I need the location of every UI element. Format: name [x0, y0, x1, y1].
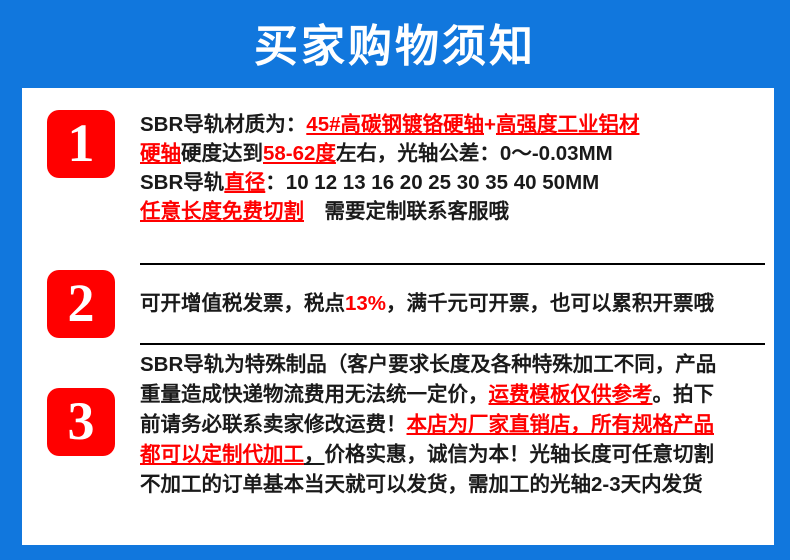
text-run: SBR导轨	[140, 171, 224, 194]
notice-line: SBR导轨为特殊制品（客户要求长度及各种特殊加工不同，产品	[140, 350, 762, 380]
text-run-highlight: 58-62度	[263, 142, 336, 165]
notice-line: 重量造成快递物流费用无法统一定价，运费模板仅供参考。拍下	[140, 380, 762, 410]
notice-line: 都可以定制代加工，价格实惠，诚信为本！光轴长度可任意切割	[140, 440, 762, 470]
notice-section-3: 3 SBR导轨为特殊制品（客户要求长度及各种特殊加工不同，产品 重量造成快递物流…	[22, 350, 774, 500]
divider-above-section-2	[140, 263, 765, 265]
text-run: 左右，光轴公差：0～-0.03MM	[336, 142, 613, 165]
badge-column-1: 1	[22, 110, 140, 178]
text-run-highlight: 13%	[345, 292, 386, 315]
notice-line: 任意长度免费切割 需要定制联系客服哦	[140, 197, 762, 226]
text-run-highlight: 任意长度免费切割	[140, 200, 304, 223]
notice-line: SBR导轨直径：10 12 13 16 20 25 30 35 40 50MM	[140, 168, 762, 197]
notice-line: 可开增值税发票，税点13%，满千元可开票，也可以累积开票哦	[140, 290, 714, 318]
notice-section-2: 2 可开增值税发票，税点13%，满千元可开票，也可以累积开票哦	[22, 266, 774, 342]
section-number-badge-2: 2	[47, 270, 115, 338]
text-run-highlight: 直径	[224, 171, 265, 194]
notice-panel: 1 SBR导轨材质为：45#高碳钢镀铬硬轴+高强度工业铝材 硬轴硬度达到58-6…	[22, 88, 774, 545]
section-body-1: SBR导轨材质为：45#高碳钢镀铬硬轴+高强度工业铝材 硬轴硬度达到58-62度…	[140, 110, 774, 226]
section-body-2: 可开增值税发票，税点13%，满千元可开票，也可以累积开票哦	[140, 266, 774, 342]
page-title: 买家购物须知	[0, 18, 790, 76]
badge-column-3: 3	[22, 350, 140, 456]
text-run: 可开增值税发票，税点	[140, 292, 345, 315]
text-run-highlight: 硬轴	[140, 142, 181, 165]
text-run-highlight: 运费模板仅供参考	[489, 383, 653, 406]
text-run: 需要定制联系客服哦	[304, 200, 509, 223]
text-run-highlight: 45#高碳钢镀铬硬轴	[306, 113, 484, 136]
text-run: ，	[304, 443, 325, 466]
text-run: 价格实惠，诚信为本！光轴长度可任意切割	[325, 443, 715, 466]
text-run-highlight: 都可以定制代加工	[140, 443, 304, 466]
section-number-badge-1: 1	[47, 110, 115, 178]
notice-line: 前请务必联系卖家修改运费！本店为厂家直销店，所有规格产品	[140, 410, 762, 440]
text-run: 。拍下	[653, 383, 715, 406]
notice-line: 不加工的订单基本当天就可以发货，需加工的光轴2-3天内发货	[140, 470, 762, 500]
notice-line: SBR导轨材质为：45#高碳钢镀铬硬轴+高强度工业铝材	[140, 110, 762, 139]
divider-below-section-2	[140, 343, 765, 345]
text-run-highlight: +	[484, 113, 496, 136]
buyer-notice-poster: 买家购物须知 1 SBR导轨材质为：45#高碳钢镀铬硬轴+高强度工业铝材 硬轴硬…	[0, 0, 790, 560]
badge-column-2: 2	[22, 266, 140, 342]
section-number-badge-3: 3	[47, 388, 115, 456]
text-run: 前请务必联系卖家修改运费！	[140, 413, 407, 436]
section-body-3: SBR导轨为特殊制品（客户要求长度及各种特殊加工不同，产品 重量造成快递物流费用…	[140, 350, 774, 500]
notice-section-1: 1 SBR导轨材质为：45#高碳钢镀铬硬轴+高强度工业铝材 硬轴硬度达到58-6…	[22, 110, 774, 226]
text-run: 不加工的订单基本当天就可以发货，需加工的光轴2-3天内发货	[140, 473, 703, 496]
text-run-highlight: 本店为厂家直销店，所有规格产品	[407, 413, 715, 436]
text-run: SBR导轨为特殊制品（客户要求长度及各种特殊加工不同，产品	[140, 353, 716, 376]
text-run: ：10 12 13 16 20 25 30 35 40 50MM	[265, 171, 599, 194]
text-run-highlight: 高强度工业铝材	[496, 113, 640, 136]
notice-line: 硬轴硬度达到58-62度左右，光轴公差：0～-0.03MM	[140, 139, 762, 168]
text-run: 硬度达到	[181, 142, 263, 165]
text-run: ，满千元可开票，也可以累积开票哦	[386, 292, 714, 315]
text-run: 重量造成快递物流费用无法统一定价，	[140, 383, 489, 406]
text-run: SBR导轨材质为：	[140, 113, 306, 136]
